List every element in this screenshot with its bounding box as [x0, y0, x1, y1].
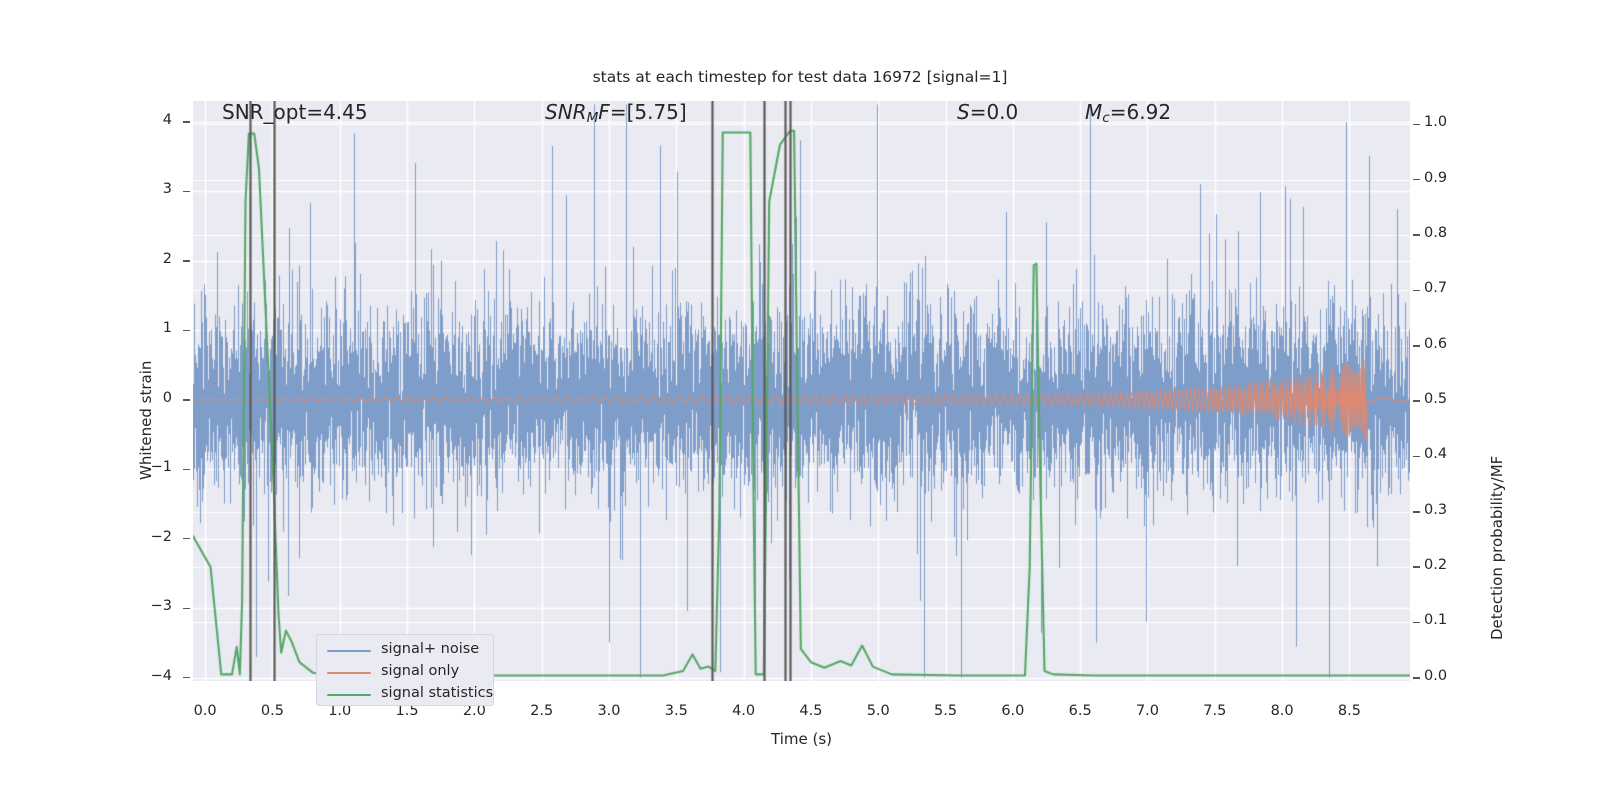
legend-swatch	[327, 672, 371, 674]
y-tick-label-left: 4	[130, 112, 172, 128]
legend-label: signal only	[381, 663, 459, 679]
x-tick-label: 4.0	[714, 703, 774, 719]
x-tick-label: 6.5	[1050, 703, 1110, 719]
x-tick-label: 5.5	[916, 703, 976, 719]
legend-swatch	[327, 694, 371, 696]
annotation-snr-mf: SNRMF=[5.75]	[545, 100, 687, 126]
y-tick-label-left: 1	[130, 320, 172, 336]
y-tick-label-right: 0.9	[1424, 170, 1470, 186]
y-tick-label-right: 0.5	[1424, 391, 1470, 407]
y-tick-label-right: 1.0	[1424, 114, 1470, 130]
y-tick-label-left: −3	[130, 598, 172, 614]
legend: signal+ noisesignal onlysignal statistic…	[316, 634, 494, 706]
y-tick-label-left: 3	[130, 181, 172, 197]
y-tick-label-left: −2	[130, 529, 172, 545]
x-tick-label: 7.0	[1117, 703, 1177, 719]
y-tick-label-left: −4	[130, 668, 172, 684]
legend-label: signal+ noise	[381, 641, 479, 657]
y-tick-label-right: 0.4	[1424, 446, 1470, 462]
y-tick-mark-left	[183, 538, 190, 539]
y-tick-label-right: 0.1	[1424, 612, 1470, 628]
x-tick-label: 3.5	[646, 703, 706, 719]
x-tick-label: 5.0	[848, 703, 908, 719]
y-tick-mark-right	[1413, 124, 1420, 125]
y-tick-label-right: 0.6	[1424, 336, 1470, 352]
y-tick-mark-left	[183, 469, 190, 470]
x-tick-label: 0.5	[242, 703, 302, 719]
y-tick-mark-right	[1413, 290, 1420, 291]
y-tick-label-left: 2	[130, 251, 172, 267]
x-tick-label: 8.5	[1319, 703, 1379, 719]
x-tick-label: 4.5	[781, 703, 841, 719]
page-title: stats at each timestep for test data 169…	[0, 68, 1600, 86]
x-tick-label: 8.0	[1252, 703, 1312, 719]
y-tick-label-right: 0.8	[1424, 225, 1470, 241]
annotation-s-statistic: S=0.0	[957, 100, 1018, 124]
y-tick-mark-right	[1413, 345, 1420, 346]
plot-area	[193, 101, 1410, 681]
y-tick-label-right: 0.0	[1424, 668, 1470, 684]
legend-swatch	[327, 650, 371, 652]
y-tick-mark-right	[1413, 456, 1420, 457]
y-tick-mark-left	[183, 121, 190, 122]
y-tick-mark-right	[1413, 566, 1420, 567]
y-tick-mark-left	[183, 191, 190, 192]
x-tick-label: 0.0	[175, 703, 235, 719]
y-tick-label-right: 0.2	[1424, 557, 1470, 573]
x-tick-label: 7.5	[1185, 703, 1245, 719]
y-tick-mark-left	[183, 330, 190, 331]
y-tick-mark-left	[183, 260, 190, 261]
y-tick-mark-right	[1413, 622, 1420, 623]
x-tick-label: 2.5	[512, 703, 572, 719]
x-tick-label: 6.0	[983, 703, 1043, 719]
annotation-snr-opt: SNR_opt=4.45	[222, 100, 368, 124]
x-axis-label: Time (s)	[193, 730, 1410, 748]
y-tick-mark-left	[183, 399, 190, 400]
x-tick-label: 3.0	[579, 703, 639, 719]
y-tick-label-left: 0	[130, 390, 172, 406]
y-tick-mark-right	[1413, 511, 1420, 512]
y-tick-label-left: −1	[130, 459, 172, 475]
y-tick-mark-left	[183, 677, 190, 678]
y-tick-mark-right	[1413, 400, 1420, 401]
figure-root: stats at each timestep for test data 169…	[0, 0, 1600, 800]
y-tick-label-right: 0.3	[1424, 502, 1470, 518]
y-tick-mark-right	[1413, 179, 1420, 180]
y-tick-label-right: 0.7	[1424, 280, 1470, 296]
legend-label: signal statistics	[381, 685, 493, 701]
annotation-chirp-mass: Mc=6.92	[1085, 100, 1171, 126]
y-tick-mark-right	[1413, 677, 1420, 678]
y-axis-label-right: Detection probability/MF	[1488, 456, 1506, 640]
y-tick-mark-left	[183, 608, 190, 609]
chart-canvas	[193, 101, 1410, 681]
y-tick-mark-right	[1413, 234, 1420, 235]
